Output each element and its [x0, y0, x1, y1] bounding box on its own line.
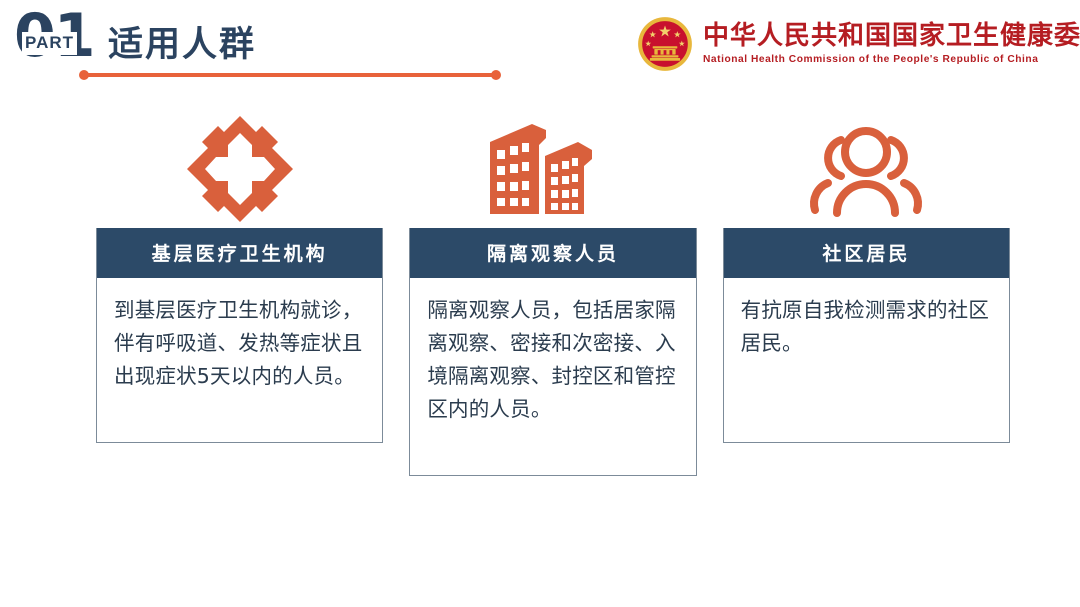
column-community-residents: 社区居民 有抗原自我检测需求的社区居民。 — [723, 108, 1010, 488]
card-body-text: 到基层医疗卫生机构就诊，伴有呼吸道、发热等症状且出现症状5天以内的人员。 — [97, 278, 382, 442]
column-primary-care: 基层医疗卫生机构 到基层医疗卫生机构就诊，伴有呼吸道、发热等症状且出现症状5天以… — [96, 108, 383, 488]
card-body-text: 有抗原自我检测需求的社区居民。 — [724, 278, 1009, 442]
card-header-title: 基层医疗卫生机构 — [97, 228, 382, 278]
title-underline-rule — [82, 73, 498, 77]
card-body-text: 隔离观察人员，包括居家隔离观察、密接和次密接、入境隔离观察、封控区和管控区内的人… — [410, 278, 695, 475]
ministry-name-block: 中华人民共和国国家卫生健康委员会 National Health Commiss… — [703, 21, 1080, 67]
icon-container — [409, 108, 696, 228]
buildings-icon — [488, 114, 618, 222]
card-header-title: 社区居民 — [724, 228, 1009, 278]
content-columns: 基层医疗卫生机构 到基层医疗卫生机构就诊，伴有呼吸道、发热等症状且出现症状5天以… — [96, 108, 1010, 488]
card-community-residents: 社区居民 有抗原自我检测需求的社区居民。 — [723, 228, 1010, 443]
ministry-name-cn: 中华人民共和国国家卫生健康委员会 — [703, 21, 1080, 51]
column-quarantine-observation: 隔离观察人员 隔离观察人员，包括居家隔离观察、密接和次密接、入境隔离观察、封控区… — [409, 108, 696, 488]
icon-container — [96, 108, 383, 228]
china-national-emblem-icon — [637, 16, 693, 72]
card-primary-care: 基层医疗卫生机构 到基层医疗卫生机构就诊，伴有呼吸道、发热等症状且出现症状5天以… — [96, 228, 383, 443]
icon-container — [723, 108, 1010, 228]
medical-cross-diamond-icon — [184, 113, 296, 223]
part-label: PART — [22, 32, 77, 55]
ministry-name-en: National Health Commission of the People… — [703, 53, 1080, 67]
ministry-logo: 中华人民共和国国家卫生健康委员会 National Health Commiss… — [637, 14, 1080, 74]
card-header-title: 隔离观察人员 — [410, 228, 695, 278]
group-of-people-icon — [806, 118, 926, 218]
slide-canvas: 01 PART 适用人群 — [0, 0, 1080, 607]
card-quarantine-observation: 隔离观察人员 隔离观察人员，包括居家隔离观察、密接和次密接、入境隔离观察、封控区… — [409, 228, 696, 476]
page-title: 适用人群 — [108, 16, 256, 67]
